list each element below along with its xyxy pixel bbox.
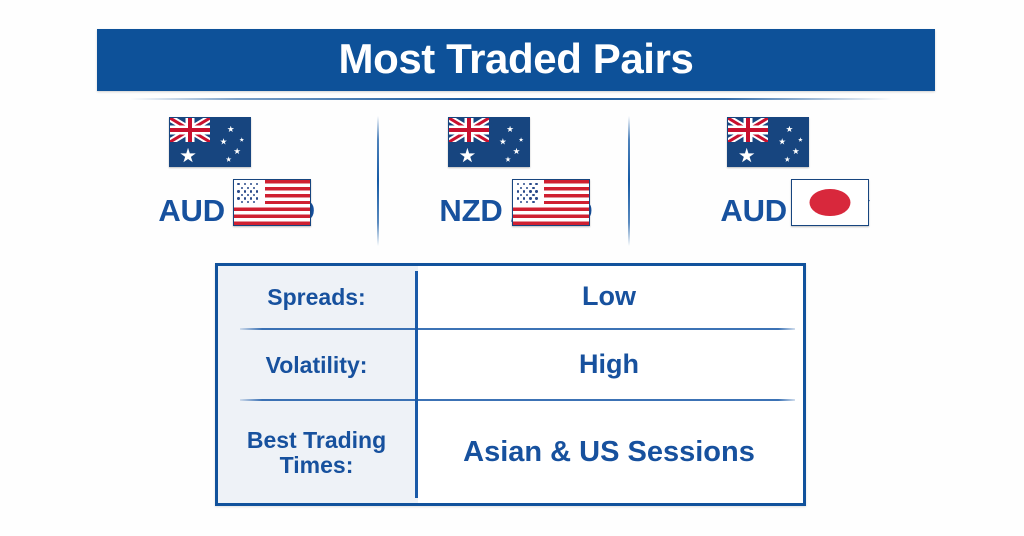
table-row-label: Volatility: (218, 353, 415, 378)
flag-pair-nzd-usd (440, 115, 592, 179)
usa-flag-icon (233, 179, 311, 226)
page-title: Most Traded Pairs (97, 35, 935, 83)
table-row-value: Asian & US Sessions (415, 437, 803, 469)
table-row: Spreads: Low (218, 266, 803, 328)
currency-pairs-row: AUD / USD (97, 112, 935, 247)
table-row: Volatility: High (218, 330, 803, 400)
table-row-divider (240, 399, 795, 401)
pair-card-nzd-usd[interactable]: NZD / USD (376, 112, 655, 247)
table-row-label: Best Trading Times: (218, 428, 415, 478)
pair-card-aud-usd[interactable]: AUD / USD (97, 112, 376, 247)
australia-flag-icon (448, 117, 530, 167)
header-underline-rule (130, 98, 892, 100)
flag-pair-aud-jpy (719, 115, 871, 179)
table-row-value: High (415, 350, 803, 380)
pair-card-aud-jpy[interactable]: AUD / JPY (656, 112, 935, 247)
australia-flag-icon (727, 117, 809, 167)
flag-pair-aud-usd (161, 115, 313, 179)
japan-flag-icon (791, 179, 869, 226)
pair-spec-table: Spreads: Low Volatility: High Best Tradi… (215, 263, 806, 506)
table-row: Best Trading Times: Asian & US Sessions (218, 402, 803, 503)
australia-flag-icon (169, 117, 251, 167)
usa-flag-icon (512, 179, 590, 226)
pair-divider (377, 116, 379, 246)
table-row-label: Spreads: (218, 285, 415, 310)
pair-divider (628, 116, 630, 246)
table-row-value: Low (415, 282, 803, 312)
header-banner: Most Traded Pairs (97, 29, 935, 91)
